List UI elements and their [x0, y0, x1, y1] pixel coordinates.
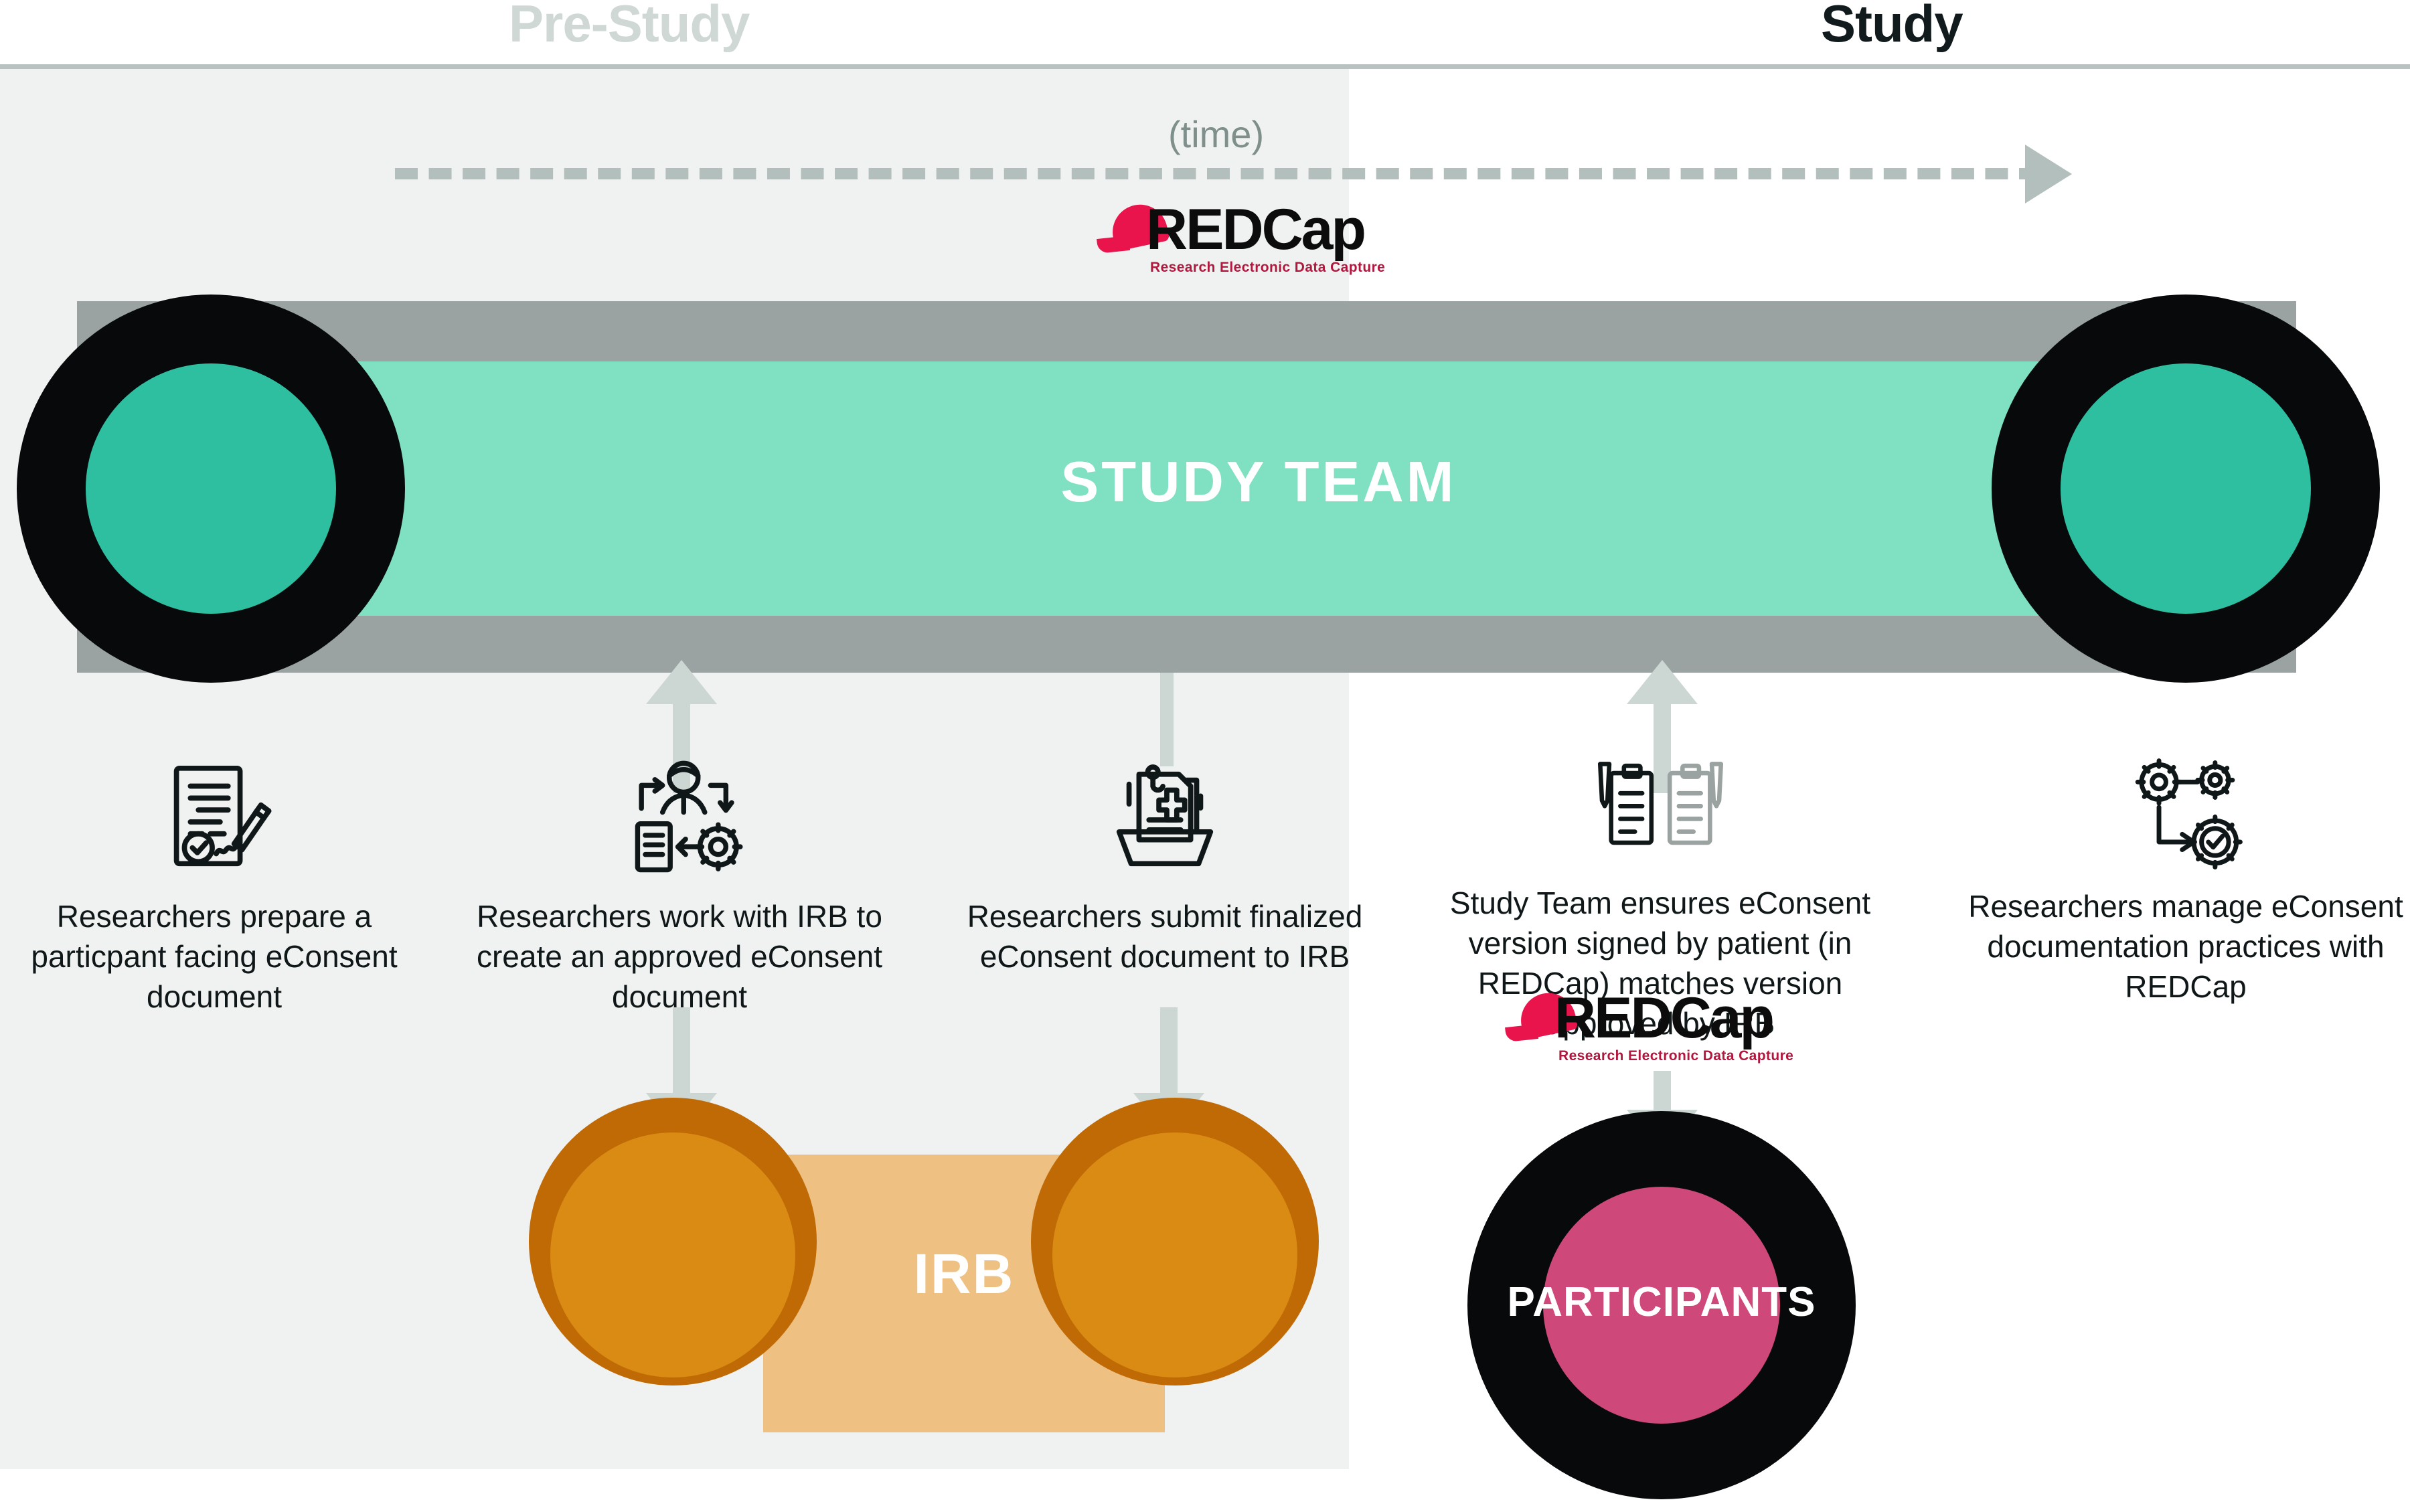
phase-title-pre-study: Pre-Study	[509, 0, 749, 54]
study-team-label: STUDY TEAM	[991, 450, 1526, 515]
time-axis-dashed-line	[395, 168, 2042, 179]
arrow-step2-to-irb	[673, 1007, 690, 1094]
time-axis-label: (time)	[1168, 112, 1264, 156]
header-divider-line	[0, 64, 2410, 69]
redcap-tagline: Research Electronic Data Capture	[1558, 1048, 1793, 1064]
step-1: Researchers prepare a particpant facing …	[7, 756, 422, 1017]
arrow-head-up-icon	[1627, 660, 1698, 704]
irb-label: IRB	[830, 1242, 1098, 1307]
step-1-caption: Researchers prepare a particpant facing …	[7, 896, 422, 1017]
time-axis-arrow-icon	[2025, 145, 2072, 203]
two-clipboards-compare-icon	[1413, 753, 1908, 873]
participants-label: PARTICIPANTS	[1447, 1278, 1876, 1326]
signed-document-pen-icon	[7, 756, 422, 887]
irb-node-left	[550, 1132, 795, 1377]
study-team-node-right	[2061, 363, 2311, 614]
medical-document-folder-icon	[957, 756, 1372, 887]
arrow-head-up-icon	[646, 660, 717, 704]
step-2: Researchers work with IRB to create an a…	[472, 756, 887, 1017]
study-team-node-left	[86, 363, 336, 614]
step-5: Researchers manage eConsent documentatio…	[1965, 756, 2407, 1007]
step-3: Researchers submit finalized eConsent do…	[957, 756, 1372, 977]
arrow-step3-to-irb	[1160, 1007, 1178, 1094]
redcap-wordmark: REDCap	[1554, 989, 1773, 1047]
step-3-caption: Researchers submit finalized eConsent do…	[957, 896, 1372, 977]
redcap-tagline: Research Electronic Data Capture	[1150, 260, 1385, 276]
redcap-wordmark: REDCap	[1146, 201, 1364, 258]
person-gear-document-workflow-icon	[472, 756, 887, 887]
connector-study-team-to-step3	[1160, 673, 1174, 766]
step-2-caption: Researchers work with IRB to create an a…	[472, 896, 887, 1017]
step-5-caption: Researchers manage eConsent documentatio…	[1965, 886, 2407, 1007]
gears-check-workflow-icon	[1965, 756, 2407, 877]
arrow-step4-to-participants	[1654, 1071, 1671, 1111]
phase-title-study: Study	[1821, 0, 1963, 54]
